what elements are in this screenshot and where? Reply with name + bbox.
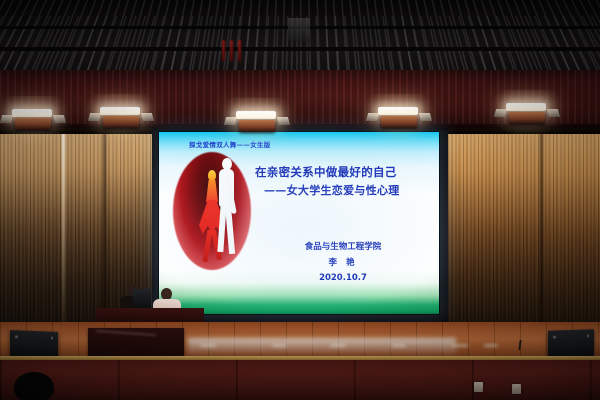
audience-head-silhouette [14, 372, 54, 400]
laptop [133, 288, 151, 309]
auditorium-scene: 探戈爱情双人舞——女生版 在亲密关系中做最好的自己 ——女大学生恋爱与性心理 食… [0, 0, 600, 400]
wall-outlet [474, 382, 483, 392]
ceiling-red-light [238, 40, 241, 62]
ceiling-red-light [230, 40, 233, 62]
floor-glint [272, 344, 286, 347]
ceiling-center-fixture [288, 18, 310, 42]
stage-curtain-right [448, 130, 600, 325]
stage-monitor-screen [88, 328, 184, 358]
stage-light-5 [502, 100, 552, 130]
ceiling-beam [0, 47, 600, 51]
ceiling-red-light [222, 40, 225, 62]
slide-meta: 食品与生物工程学院 李 艳 2020.10.7 [255, 240, 431, 287]
stage-light-2 [96, 104, 146, 134]
floor-light-reflection [188, 338, 456, 356]
dancer-male-icon [215, 158, 241, 262]
slide-title-line1: 在亲密关系中做最好的自己 [255, 164, 435, 182]
slide-kicker-text: 探戈爱情双人舞——女生版 [189, 139, 339, 149]
stage-light-3 [232, 108, 282, 138]
curtain-seam [103, 130, 106, 325]
slide-organization: 食品与生物工程学院 [255, 240, 431, 256]
projection-screen[interactable]: 探戈爱情双人舞——女生版 在亲密关系中做最好的自己 ——女大学生恋爱与性心理 食… [158, 131, 440, 315]
floor-glint [330, 344, 346, 347]
stage-speaker-right [548, 329, 594, 359]
apron-panels [0, 360, 600, 400]
slide-title-line2: ——女大学生恋爱与性心理 [255, 182, 435, 199]
stage-speaker-left [10, 330, 58, 359]
slide-title: 在亲密关系中做最好的自己 ——女大学生恋爱与性心理 [255, 164, 435, 199]
floor-glint [452, 344, 468, 347]
ceiling [0, 0, 600, 72]
presentation-slide: 探戈爱情双人舞——女生版 在亲密关系中做最好的自己 ——女大学生恋爱与性心理 食… [159, 132, 439, 314]
curtain-shading [448, 130, 600, 325]
floor-glint [200, 344, 216, 347]
floor-glint [484, 344, 498, 347]
stage-light-4 [374, 104, 424, 134]
floor-glint [392, 344, 406, 347]
curtain-seam [540, 130, 543, 325]
slide-presenter: 李 艳 [255, 256, 431, 272]
wall-outlet [512, 384, 521, 394]
slide-date: 2020.10.7 [255, 271, 431, 287]
stage-light-1 [8, 106, 58, 136]
stage-apron [0, 360, 600, 400]
curtain-light-gap [62, 132, 65, 324]
